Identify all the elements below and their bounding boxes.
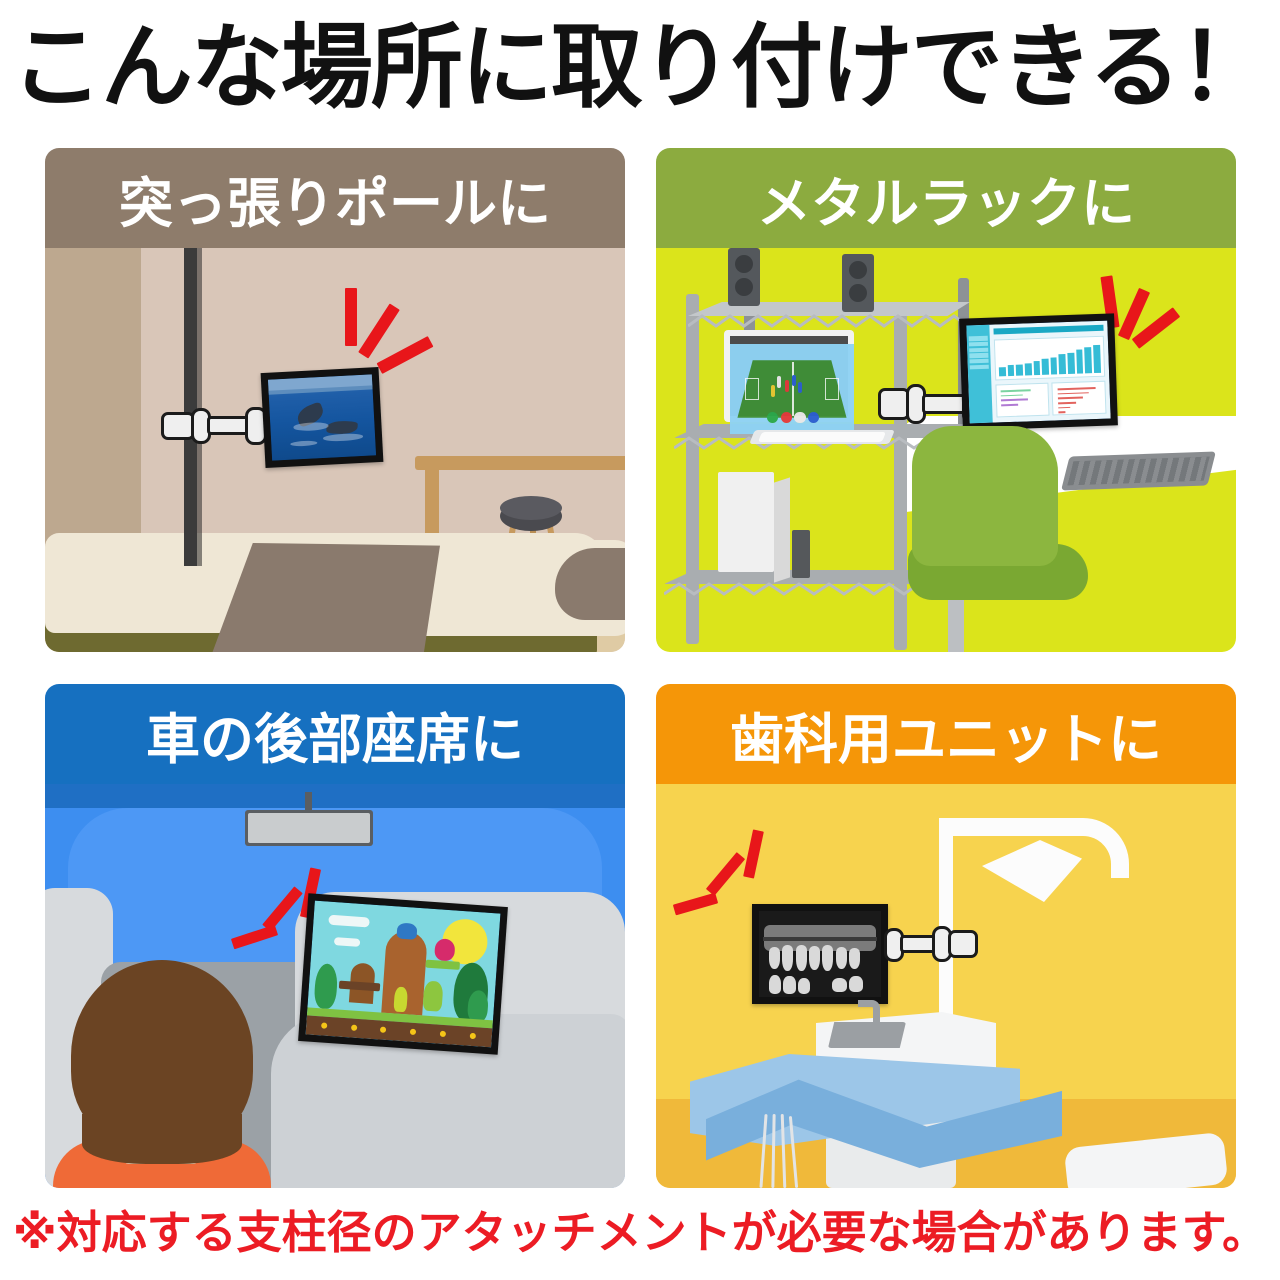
water-wake [323,433,363,442]
sidebar-row [969,347,988,352]
soccer-player [771,385,775,397]
chart-bar [1076,350,1083,374]
mirror-stem [305,792,312,812]
water-wake [293,422,329,431]
panel-header-label: 突っ張りポールに [119,159,551,238]
game-character-green [423,981,444,1012]
flash-stroke [706,852,745,896]
flash-stroke [673,893,718,916]
pitch-line-left-box [745,378,759,400]
panel-header-car-rear-seat: 車の後部座席に [45,684,625,784]
team-flag [808,412,819,423]
monitor-screen [268,374,376,460]
hbar [1058,411,1065,413]
sidebar-row [970,364,989,369]
bar-chart [994,336,1105,381]
water-wake [290,440,317,446]
xray-tooth [782,945,793,971]
laptop-keyboard [758,432,886,442]
keyboard-desk [1061,451,1216,490]
panel-header-label: 車の後部座席に [146,695,524,774]
dashboard-lower-row [995,381,1106,417]
xray-tooth-lower [849,976,862,991]
pitch-line-center [792,362,794,416]
xray-tooth [849,948,860,969]
scene-metal-rack [656,248,1236,652]
page-title: こんな場所に取り付けできる！ [0,8,1280,128]
list-row [1001,394,1023,396]
chair-backrest [912,426,1058,566]
sidebar-row [969,353,988,358]
xray-tooth [836,947,847,969]
list-row [1001,389,1031,392]
panel-header-metal-rack: メタルラックに [656,148,1236,248]
dashboard-ui [966,321,1110,424]
sidebar-row [969,336,988,341]
monitor-screen [306,901,501,1048]
monitor-screen [966,321,1110,424]
xray-tooth-lower [783,976,795,993]
stool-seat [500,496,562,520]
list-row [1001,399,1027,402]
monitor-screen [759,911,881,997]
speaker-driver [735,278,753,296]
panel-header-label: 歯科用ユニットに [730,695,1162,774]
laptop-screen-soccer [730,344,854,434]
tension-pole-shadow [197,248,202,566]
chart-bar [1007,365,1014,376]
panel-metal-rack: メタルラックに [656,148,1236,652]
game-character-hero [393,987,408,1012]
monitor-dolphin [261,367,384,468]
car-roof [45,784,625,808]
flash-stroke [345,288,357,346]
chart-bar [1025,363,1032,375]
xray-tooth-lower [798,978,810,993]
arm-pole-clamp [948,930,978,958]
sidebar-row [969,342,988,347]
hbar [1058,406,1070,408]
xray-tooth [769,947,780,969]
chart-bar [1033,361,1040,375]
footnote: ※対応する支柱径のアタッチメントが必要な場合があります。 [0,1196,1280,1261]
chart-bar [1067,353,1074,374]
chart-bar [1016,364,1023,375]
keyboard-keys [1067,457,1209,486]
team-flag [767,412,778,423]
scene-bedroom [45,248,625,652]
panel-header-tension-pole: 突っ張りポールに [45,148,625,248]
speaker-right [842,254,874,312]
game-screen [306,901,501,1048]
arm-pole-clamp [161,412,195,440]
xray-tooth [822,945,833,971]
mesh-pattern [688,314,970,328]
xray-tooth [809,946,820,970]
monitor-dashboard [959,313,1118,430]
pc-accessory [792,530,810,578]
panel-tension-pole: 突っ張りポールに [45,148,625,652]
panel-car-rear-seat: 車の後部座席に [45,684,625,1188]
soccer-player [792,375,796,387]
panel-header-dental-unit: 歯科用ユニットに [656,684,1236,784]
speaker-left [728,248,760,306]
rack-post-front-right [894,308,907,650]
soccer-player [798,382,802,394]
chart-bar [1084,347,1091,373]
dashboard-card-bars [1052,381,1106,415]
chart-bar [1093,345,1101,373]
pitch-line-right-box [825,378,839,400]
tension-pole [184,248,197,566]
hbar [1058,397,1083,400]
game-platform [426,960,460,970]
xray-tooth [796,945,807,971]
sidebar-row [969,359,988,364]
speaker-driver [849,284,867,302]
bedroom-wall-left [45,248,141,578]
soccer-player [785,380,789,392]
hbar [1057,387,1095,390]
chart-bar [1050,357,1057,374]
rack-mesh-top [688,314,970,328]
dashboard-card-list [995,383,1049,417]
hbar [1058,402,1076,404]
passenger-head [71,960,253,1152]
passenger-hair [82,1114,242,1164]
speaker-driver [849,261,867,279]
arm-extension [922,394,966,414]
chart-bar [999,367,1006,376]
dashboard-body [989,321,1111,423]
soccer-player [777,376,781,388]
xray-tooth-lower [769,975,781,994]
xray-band [763,937,878,941]
flash-stroke [743,829,764,878]
team-flag [794,412,805,423]
game-cloud [334,937,361,947]
hbar [1058,392,1090,395]
dolphin-ocean-image [268,374,376,460]
arm-extension [900,935,936,953]
game-character-blue [396,923,418,940]
rear-view-mirror [245,810,373,846]
dental-xray-image [759,911,881,997]
chart-bar [1059,354,1066,374]
dental-instrument-hook [858,1000,880,1034]
game-cloud [328,915,369,927]
monitor-game [298,893,508,1055]
mirror-glass [248,813,370,843]
panel-dental-unit: 歯科用ユニットに [656,684,1236,1188]
infographic-page: こんな場所に取り付けできる！ 突っ張りポールに [0,0,1280,1280]
team-flag [781,412,792,423]
pc-tower-side [774,477,790,582]
panel-grid: 突っ張りポールに [45,148,1241,1188]
chart-bar [1042,359,1049,375]
speaker-driver [735,255,753,273]
xray-tooth-lower [832,978,847,992]
scene-car-interior [45,784,625,1188]
dashboard-toolbar [993,325,1103,335]
scene-dental-unit [656,784,1236,1188]
game-tree [313,963,338,1010]
desk-top [415,456,625,470]
list-row [1001,404,1018,406]
pc-tower [718,472,774,572]
monitor-xray [752,904,888,1004]
panel-header-label: メタルラックに [757,159,1135,238]
